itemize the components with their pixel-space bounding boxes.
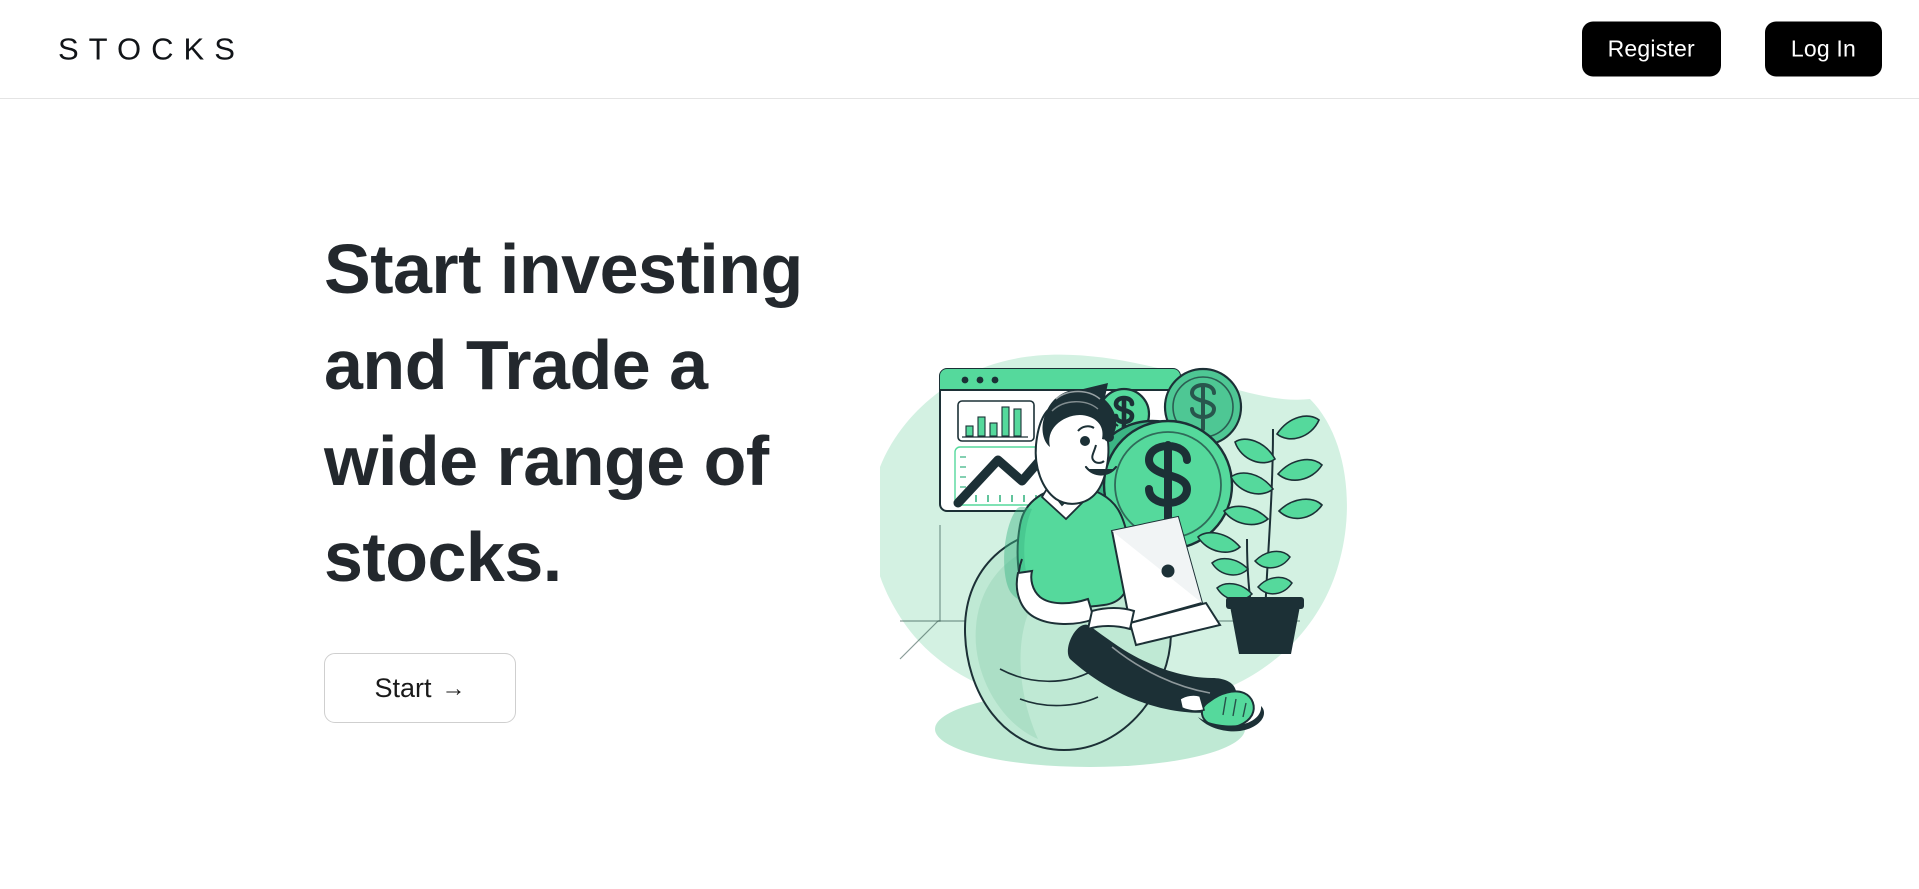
login-button[interactable]: Log In [1765, 22, 1882, 77]
site-header: STOCKS Register Log In [0, 0, 1919, 99]
investing-illustration [880, 329, 1360, 779]
header-actions: Register Log In [1582, 22, 1882, 77]
arrow-right-icon: → [442, 677, 466, 701]
register-button[interactable]: Register [1582, 22, 1721, 77]
start-button[interactable]: Start → [324, 653, 516, 723]
page-title: Start investing and Trade a wide range o… [324, 221, 814, 605]
hero-section: Start investing and Trade a wide range o… [0, 99, 1919, 889]
bar-chart-card [958, 401, 1034, 441]
investing-illustration-svg [880, 329, 1360, 779]
start-button-label: Start [374, 675, 431, 702]
hero-copy: Start investing and Trade a wide range o… [324, 221, 844, 723]
window-dots [962, 377, 999, 384]
brand-logo[interactable]: STOCKS [58, 34, 245, 65]
